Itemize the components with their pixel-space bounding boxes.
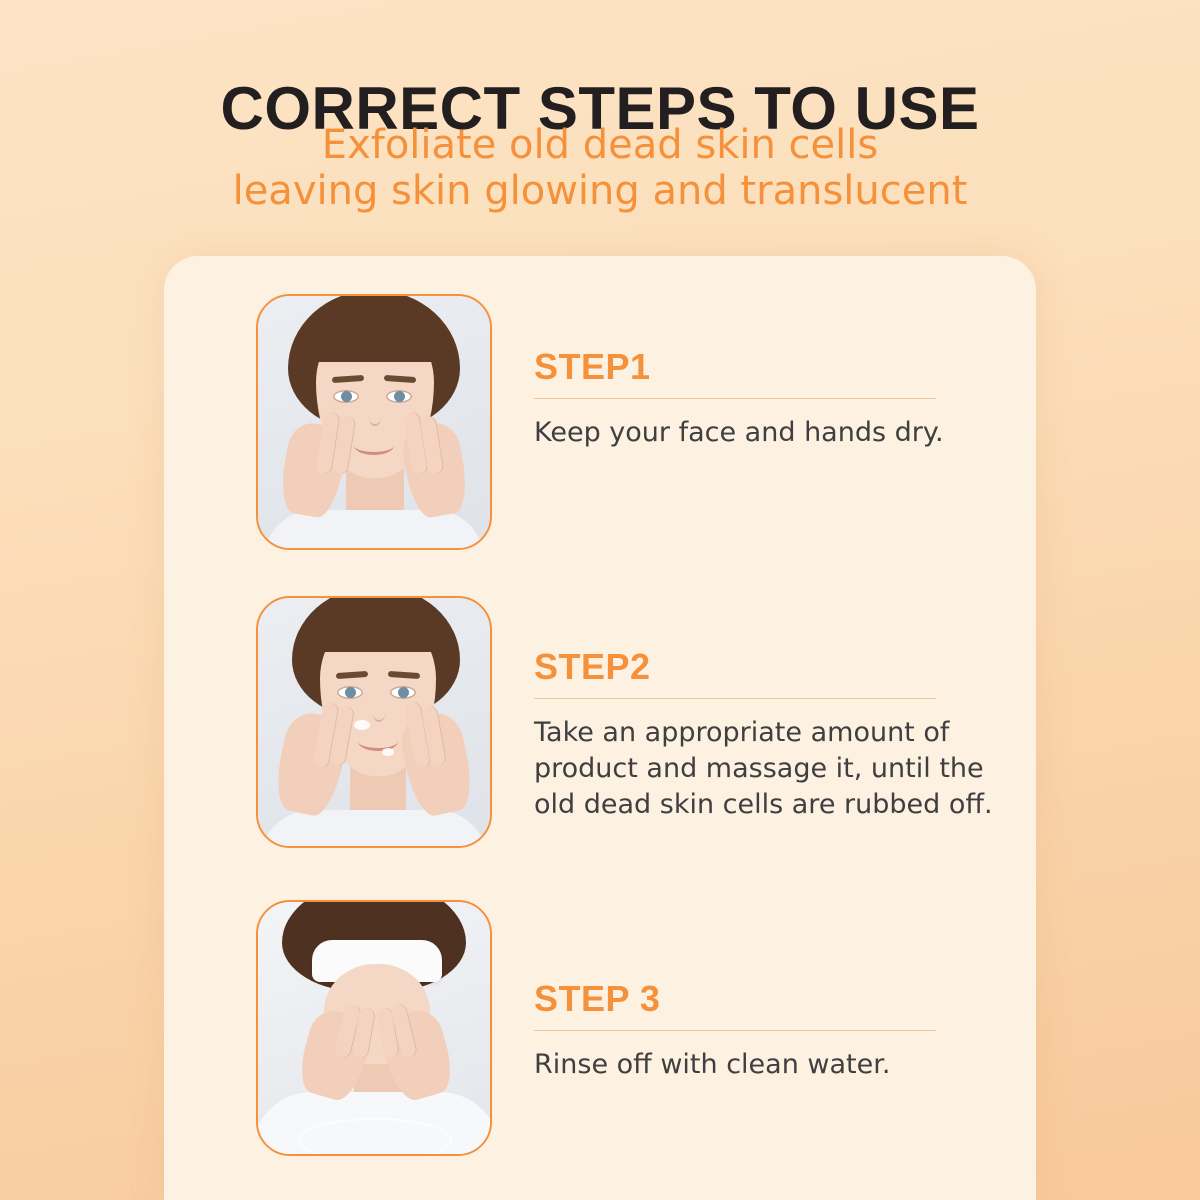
page-subtitle: Exfoliate old dead skin cells leaving sk… xyxy=(0,122,1200,214)
step-3-description: Rinse off with clean water. xyxy=(534,1047,1004,1083)
step-2-description: Take an appropriate amount of product an… xyxy=(534,715,1004,823)
step-1-image xyxy=(256,294,492,550)
step-2-image xyxy=(256,596,492,848)
step-2-text: STEP2 Take an appropriate amount of prod… xyxy=(534,596,1004,823)
subtitle-line-1: Exfoliate old dead skin cells xyxy=(0,122,1200,168)
step-1-divider xyxy=(534,398,936,399)
step-3-label: STEP 3 xyxy=(534,978,1004,1030)
step-2-label: STEP2 xyxy=(534,646,1004,698)
step-item-1: STEP1 Keep your face and hands dry. xyxy=(256,294,1004,550)
steps-card: STEP1 Keep your face and hands dry. xyxy=(164,256,1036,1200)
step-1-label: STEP1 xyxy=(534,346,1004,398)
step-3-divider xyxy=(534,1030,936,1031)
subtitle-line-2: leaving skin glowing and translucent xyxy=(0,168,1200,214)
page-root: CORRECT STEPS TO USE Exfoliate old dead … xyxy=(0,0,1200,1200)
step-1-description: Keep your face and hands dry. xyxy=(534,415,1004,451)
step-item-3: STEP 3 Rinse off with clean water. xyxy=(256,900,1004,1156)
step-1-text: STEP1 Keep your face and hands dry. xyxy=(534,294,1004,451)
step-3-image xyxy=(256,900,492,1156)
step-2-divider xyxy=(534,698,936,699)
step-3-text: STEP 3 Rinse off with clean water. xyxy=(534,900,1004,1083)
step-item-2: STEP2 Take an appropriate amount of prod… xyxy=(256,596,1004,848)
